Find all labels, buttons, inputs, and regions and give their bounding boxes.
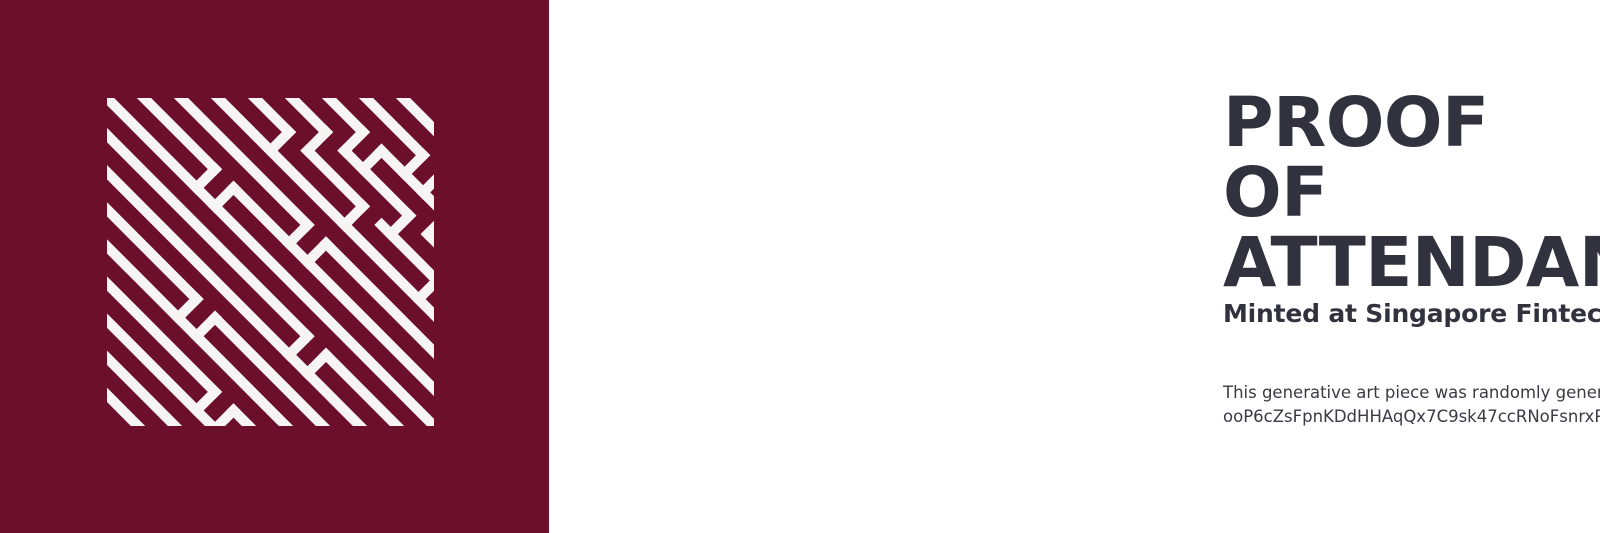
generative-maze-art <box>107 98 434 426</box>
art-panel <box>0 0 549 533</box>
title-line-proof: PROOF <box>1223 88 1600 158</box>
description-intro-text: This generative art piece was randomly g… <box>1223 381 1600 405</box>
title-line-attendance: ATTENDANCE <box>1223 228 1600 298</box>
title-line-of: OF <box>1223 158 1600 228</box>
subtitle-minted-at: Minted at Singapore Fintech Festival 202… <box>1223 298 1600 330</box>
description-block: This generative art piece was randomly g… <box>1223 381 1600 429</box>
content-panel: PROOF OF ATTENDANCE Minted at Singapore … <box>549 0 1600 533</box>
generative-art-hash: ooP6cZsFpnKDdHHAqQx7C9sk47ccRNoFsnrxPKxp… <box>1223 405 1600 429</box>
page-title: PROOF OF ATTENDANCE <box>1223 88 1600 298</box>
proof-of-attendance-certificate: PROOF OF ATTENDANCE Minted at Singapore … <box>0 0 1600 533</box>
